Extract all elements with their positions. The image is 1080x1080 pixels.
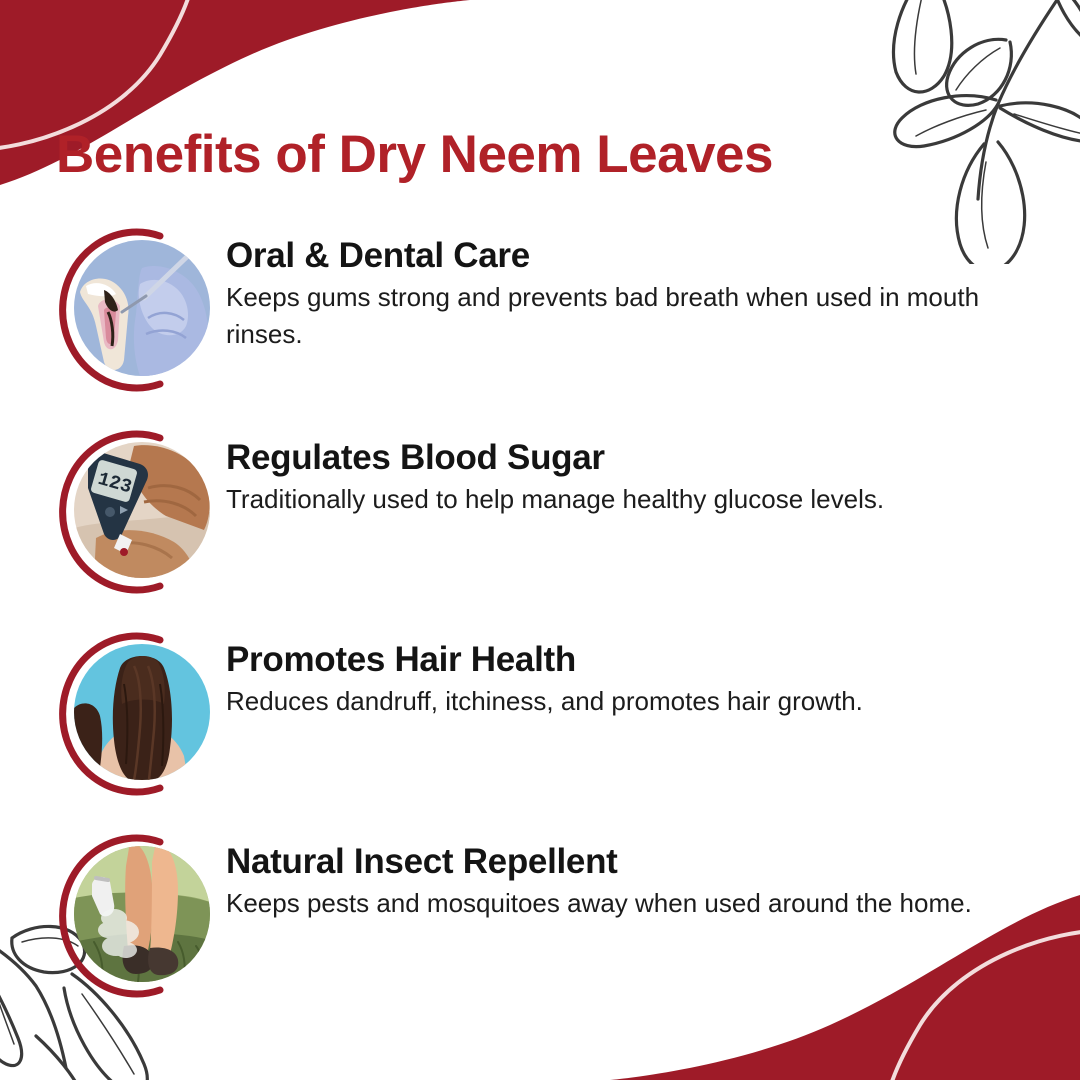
benefit-title: Natural Insect Repellent: [226, 842, 972, 881]
benefit-description: Keeps gums strong and prevents bad breat…: [226, 279, 1016, 353]
benefit-description: Reduces dandruff, itchiness, and promote…: [226, 683, 863, 720]
glucose-meter-photo: 123: [74, 442, 210, 578]
dental-tooth-model-photo: [74, 240, 210, 376]
benefit-copy: Natural Insect Repellent Keeps pests and…: [170, 830, 972, 922]
benefit-media: [0, 830, 170, 1002]
insect-repellent-spray-photo: [74, 846, 210, 982]
benefit-copy: Oral & Dental Care Keeps gums strong and…: [170, 224, 1016, 353]
benefit-description: Traditionally used to help manage health…: [226, 481, 884, 518]
benefit-media: [0, 224, 170, 396]
benefit-item-oral-dental-care: Oral & Dental Care Keeps gums strong and…: [0, 224, 1080, 396]
benefit-media: 123: [0, 426, 170, 598]
benefit-item-natural-insect-repellent: Natural Insect Repellent Keeps pests and…: [0, 830, 1080, 1002]
benefit-list: Oral & Dental Care Keeps gums strong and…: [0, 224, 1080, 1032]
benefit-title: Oral & Dental Care: [226, 236, 1016, 275]
benefit-copy: Regulates Blood Sugar Traditionally used…: [170, 426, 884, 518]
benefit-media: [0, 628, 170, 800]
infographic-poster: Benefits of Dry Neem Leaves: [0, 0, 1080, 1080]
benefit-copy: Promotes Hair Health Reduces dandruff, i…: [170, 628, 863, 720]
benefit-item-promotes-hair-health: Promotes Hair Health Reduces dandruff, i…: [0, 628, 1080, 800]
benefit-title: Regulates Blood Sugar: [226, 438, 884, 477]
page-title: Benefits of Dry Neem Leaves: [56, 124, 773, 185]
benefit-item-regulates-blood-sugar: 123 Regulates Blood Sugar Traditionally …: [0, 426, 1080, 598]
benefit-description: Keeps pests and mosquitoes away when use…: [226, 885, 972, 922]
benefit-title: Promotes Hair Health: [226, 640, 863, 679]
long-hair-photo: [74, 644, 210, 780]
